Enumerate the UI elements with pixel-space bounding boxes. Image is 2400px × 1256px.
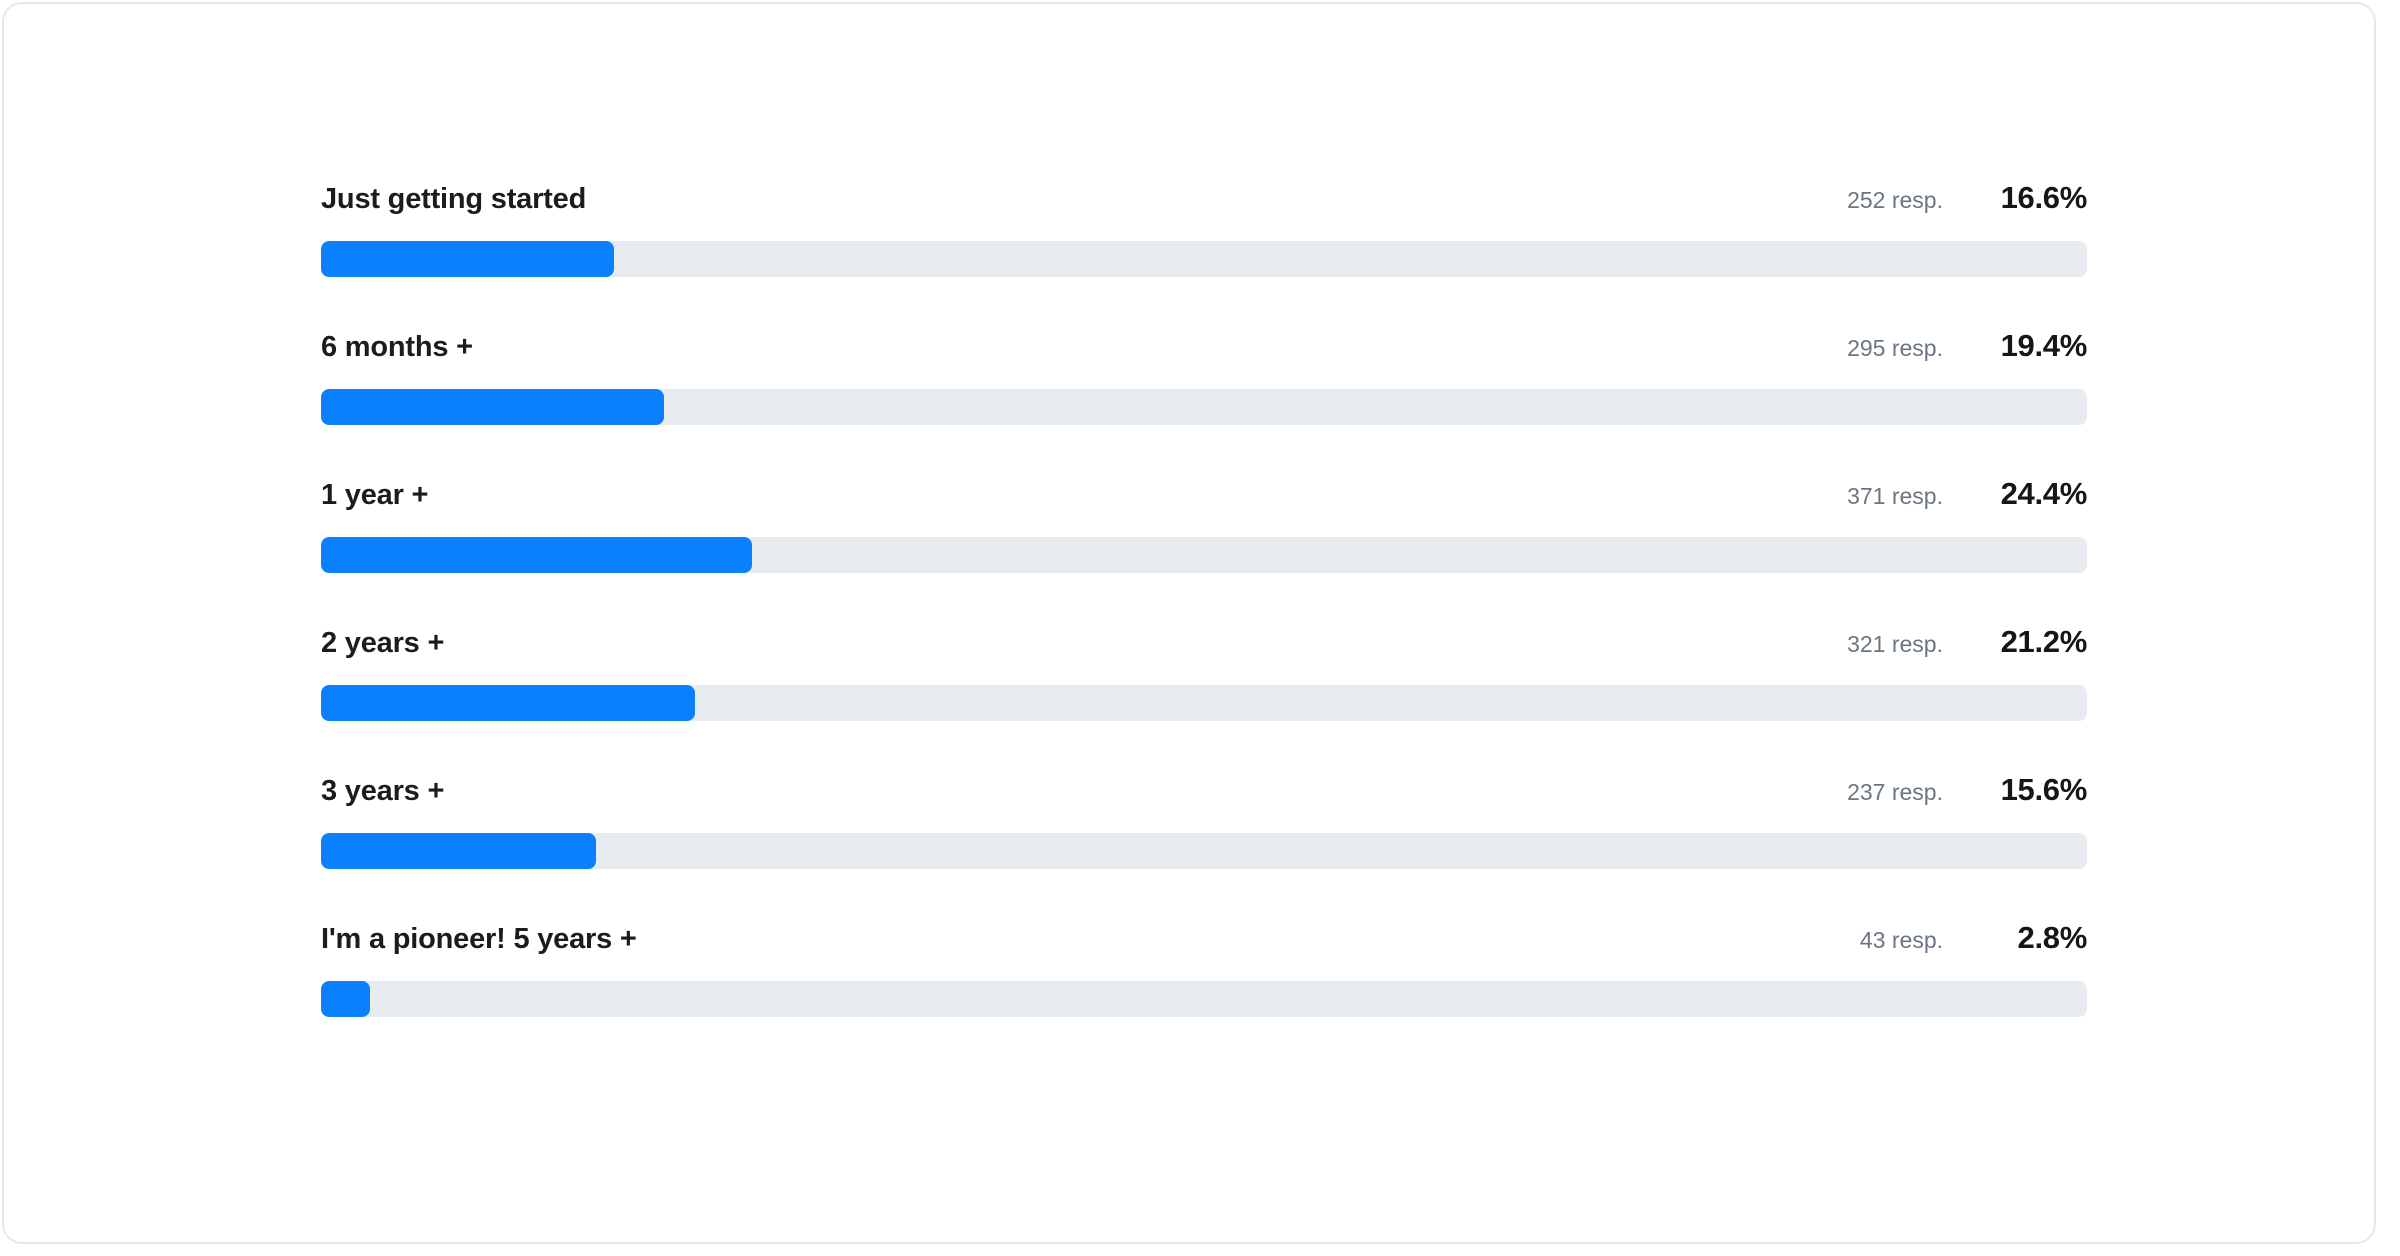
bar-row-responses: 252 resp. [1847,178,1943,222]
bar-fill [321,389,664,425]
bar-row-percent: 19.4% [1969,324,2087,368]
bar-row-percent: 15.6% [1969,768,2087,812]
bar-row[interactable]: 3 years + 237 resp. 15.6% [321,768,2087,869]
bar-fill [321,241,614,277]
bar-row-responses: 295 resp. [1847,326,1943,370]
bar-row-percent: 16.6% [1969,176,2087,220]
bar-row-label: Just getting started [321,177,586,221]
bar-row-percent: 2.8% [1969,916,2087,960]
bar-row-label: 6 months + [321,325,473,369]
bar-row-label: 2 years + [321,621,444,665]
screen: Just getting started 252 resp. 16.6% 6 m… [0,0,2400,1256]
bar-row-values: 43 resp. 2.8% [1860,916,2087,962]
bar-row-label: 3 years + [321,769,444,813]
bar-row-header: Just getting started 252 resp. 16.6% [321,176,2087,220]
bar-row-responses: 43 resp. [1860,918,1943,962]
bar-fill [321,537,752,573]
bar-track [321,685,2087,721]
bar-track [321,241,2087,277]
bar-row-header: 6 months + 295 resp. 19.4% [321,324,2087,368]
bar-row-responses: 237 resp. [1847,770,1943,814]
bar-row[interactable]: I'm a pioneer! 5 years + 43 resp. 2.8% [321,916,2087,1017]
bar-row[interactable]: 1 year + 371 resp. 24.4% [321,472,2087,573]
bar-row-header: 2 years + 321 resp. 21.2% [321,620,2087,664]
bar-row-values: 321 resp. 21.2% [1847,620,2087,666]
bar-row[interactable]: 2 years + 321 resp. 21.2% [321,620,2087,721]
bar-row-values: 252 resp. 16.6% [1847,176,2087,222]
bar-row-percent: 21.2% [1969,620,2087,664]
bar-fill [321,833,596,869]
bar-row-header: I'm a pioneer! 5 years + 43 resp. 2.8% [321,916,2087,960]
bar-row[interactable]: 6 months + 295 resp. 19.4% [321,324,2087,425]
bar-row-percent: 24.4% [1969,472,2087,516]
bar-fill [321,685,695,721]
bar-fill [321,981,370,1017]
bar-row-values: 371 resp. 24.4% [1847,472,2087,518]
bar-track [321,389,2087,425]
bar-track [321,833,2087,869]
bar-row-label: 1 year + [321,473,428,517]
bar-row-responses: 321 resp. [1847,622,1943,666]
bar-row-header: 3 years + 237 resp. 15.6% [321,768,2087,812]
bar-row-responses: 371 resp. [1847,474,1943,518]
bar-row-values: 237 resp. 15.6% [1847,768,2087,814]
bar-row-label: I'm a pioneer! 5 years + [321,917,637,961]
bar-row-values: 295 resp. 19.4% [1847,324,2087,370]
bar-row-header: 1 year + 371 resp. 24.4% [321,472,2087,516]
bar-track [321,981,2087,1017]
results-card: Just getting started 252 resp. 16.6% 6 m… [2,2,2376,1244]
bar-track [321,537,2087,573]
bar-row[interactable]: Just getting started 252 resp. 16.6% [321,176,2087,277]
bar-chart: Just getting started 252 resp. 16.6% 6 m… [321,176,2087,1017]
